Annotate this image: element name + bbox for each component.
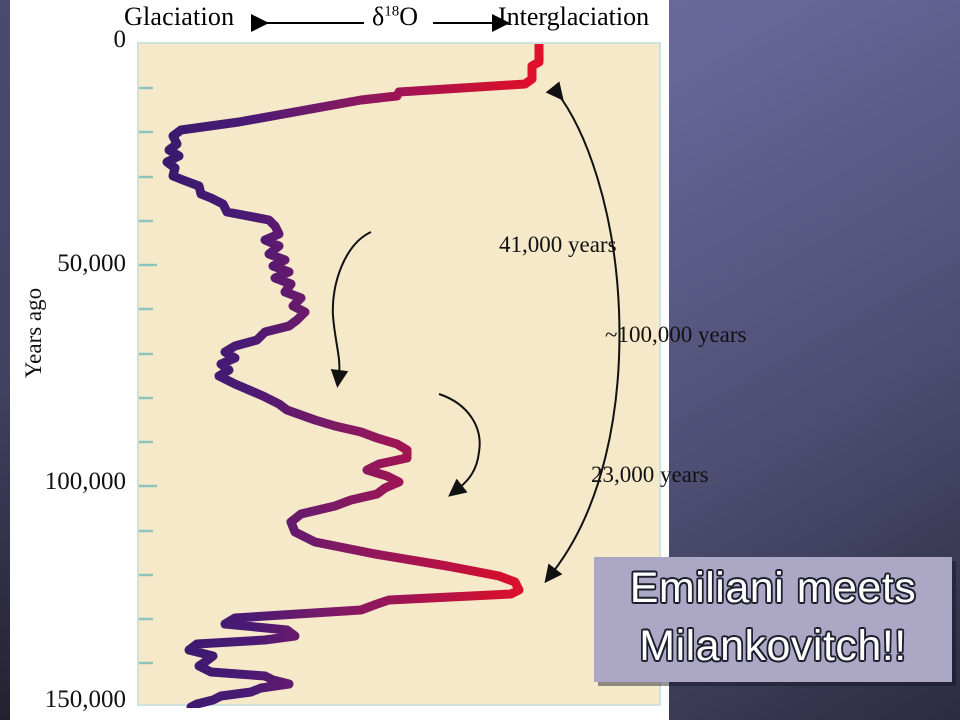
ytick-label-150000: 150,000 [18,686,126,714]
ytick-label-100000: 100,000 [18,468,126,496]
annotation-arrow-41000 [333,232,371,374]
ytick-label-0: 0 [74,26,126,54]
header-label-interglaciation: Interglaciation [498,2,649,32]
header-label-delta18o: δ18O [372,2,418,32]
caption-text: Emiliani meets Milankovitch!! [594,559,952,675]
header-label-glaciation: Glaciation [124,2,234,32]
annotation-label-41000: 41,000 years [499,232,617,258]
y-axis-title: Years ago [21,263,47,403]
annotation-arrow-23000 [439,394,480,488]
caption-box: Emiliani meets Milankovitch!! [594,557,952,682]
left-edge-strip [0,0,10,720]
annotation-label-100000: ~100,000 years [605,322,746,348]
oxygen-symbol: O [399,2,418,31]
annotation-label-23000: 23,000 years [591,462,709,488]
caption-line-1: Emiliani meets [594,559,952,617]
slide-canvas: Glaciation δ18O Interglaciation 0 50,000… [0,0,960,720]
delta18o-curve [167,44,539,707]
chart-header: Glaciation δ18O Interglaciation [100,2,670,40]
delta-superscript: 18 [384,3,399,19]
caption-line-2: Milankovitch!! [594,617,952,675]
delta-symbol: δ [372,2,384,31]
delta18o-curve-plot [139,44,663,708]
y-axis-minor-ticks [139,88,157,663]
plot-area: 41,000 years ~100,000 years 23,000 years [137,42,661,706]
